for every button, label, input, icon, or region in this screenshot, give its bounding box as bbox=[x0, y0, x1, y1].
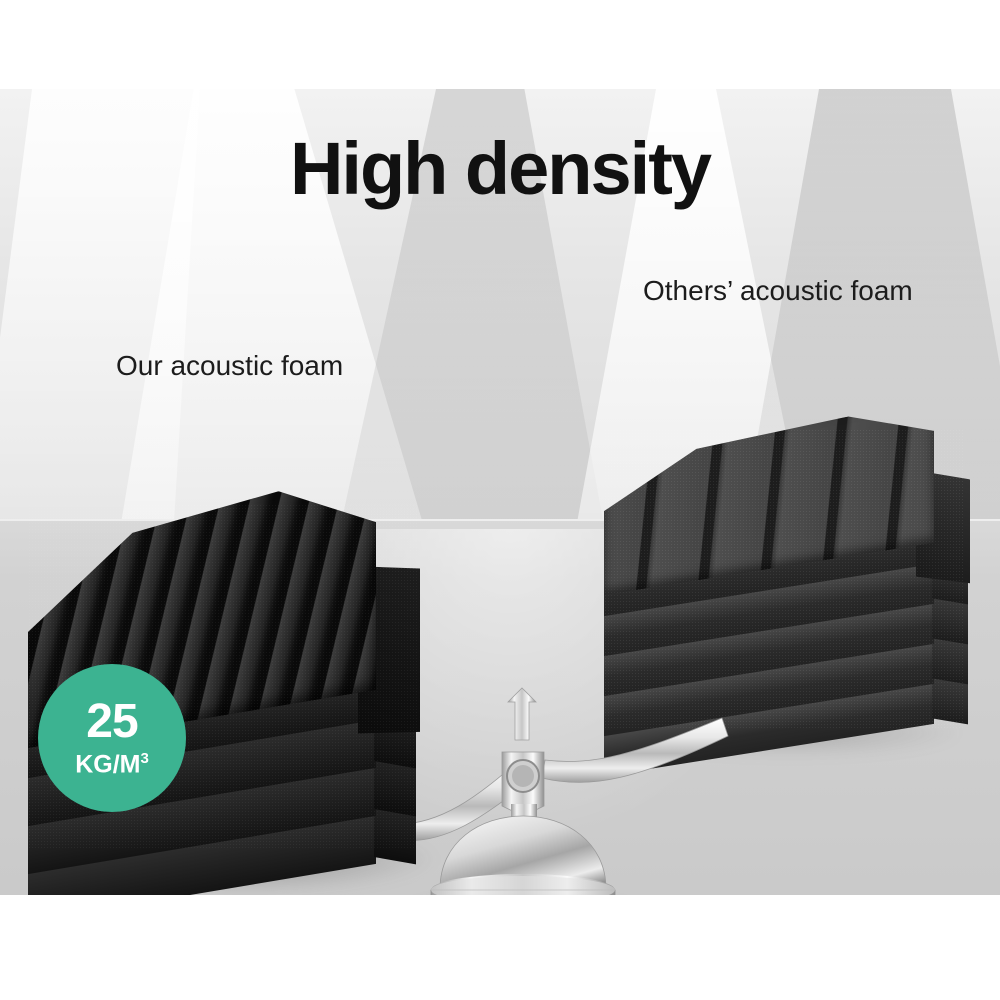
product-infographic: High density Our acoustic foam Others’ a… bbox=[0, 0, 1000, 1000]
density-unit: KG/M3 bbox=[75, 751, 149, 777]
density-unit-text: KG/M bbox=[75, 751, 140, 779]
scale-pivot-center bbox=[512, 765, 534, 787]
label-others-foam: Others’ acoustic foam bbox=[643, 275, 913, 307]
density-value: 25 bbox=[86, 698, 137, 746]
scale-arm-right bbox=[542, 718, 728, 782]
density-unit-exponent: 3 bbox=[140, 750, 148, 767]
page-title: High density bbox=[0, 132, 1000, 206]
scale-pointer-arrow bbox=[508, 688, 536, 740]
density-badge: 25 KG/M3 bbox=[38, 664, 186, 812]
label-our-foam: Our acoustic foam bbox=[116, 350, 343, 382]
